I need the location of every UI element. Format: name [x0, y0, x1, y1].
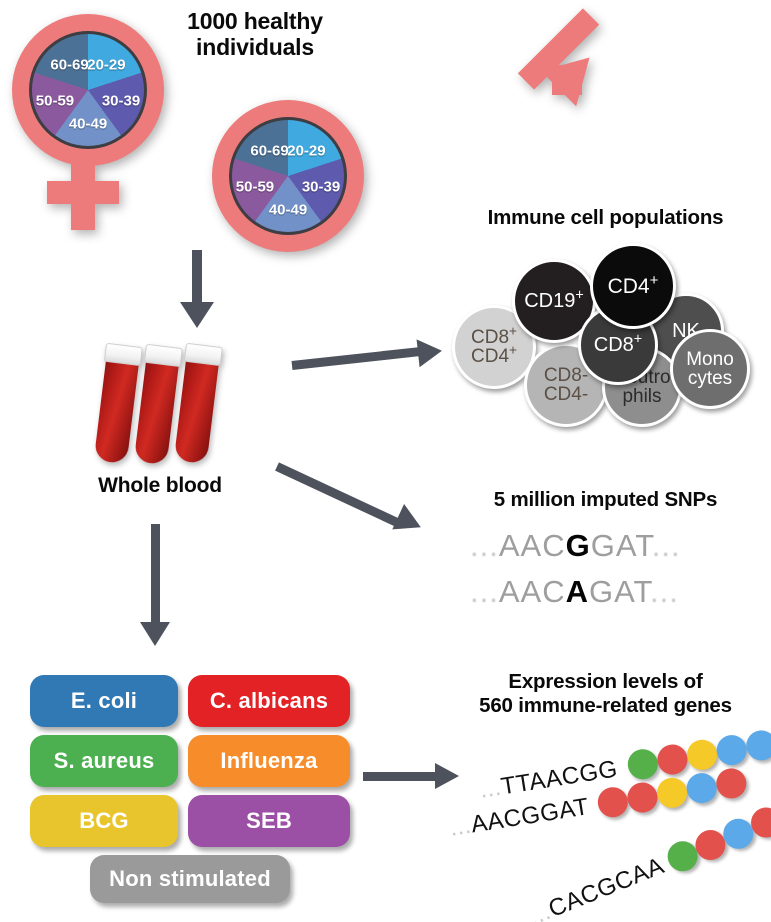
immune-title: Immune cell populations — [440, 206, 771, 230]
arrow-shaft — [192, 250, 202, 308]
arrow-head — [435, 763, 459, 789]
age-group-label-40-49: 40-49 — [69, 115, 107, 132]
age-group-label-40-49: 40-49 — [269, 201, 307, 218]
immune-cell-cluster: CD19+CD4+CD8+CD4+CD8+NKCD8-CD4-Neutrophi… — [452, 243, 771, 408]
arrow-stimuli-to-expression — [363, 760, 473, 794]
arrow-shaft — [151, 524, 160, 628]
stimulus-label: BCG — [79, 808, 129, 834]
stimulus-label: SEB — [246, 808, 292, 834]
snp-lead: ... — [470, 528, 499, 563]
immune-cell-label: CD8+CD4+ — [471, 328, 517, 366]
expression-title-line1: Expression levels of — [438, 670, 771, 694]
gene-bead — [714, 766, 748, 800]
snp-lead: ... — [470, 574, 499, 609]
age-group-label-30-39: 30-39 — [302, 178, 340, 195]
snp-prefix: AAC — [499, 528, 566, 563]
stimulus-label: C. albicans — [210, 688, 328, 714]
age-group-label-50-59: 50-59 — [36, 92, 74, 109]
stimulus-label: E. coli — [71, 688, 137, 714]
age-group-label-60-69: 60-69 — [50, 56, 88, 73]
gene-bead — [655, 742, 689, 776]
female-symbol: 20-2930-3940-4950-5960-69 — [0, 0, 180, 245]
stimulus-box-influenza[interactable]: Influenza — [188, 735, 350, 787]
tube-body — [94, 357, 139, 464]
stimuli-panel: E. coliC. albicansS. aureusInfluenzaBCGS… — [30, 675, 350, 900]
immune-cell-label: CD8-CD4- — [544, 366, 588, 404]
arrow-head — [417, 337, 444, 367]
gene-bead — [625, 780, 659, 814]
expression-title-line2: 560 immune-related genes — [438, 694, 771, 718]
gene-bead — [685, 771, 719, 805]
snp-sequences: ...AACGGAT......AACAGAT... — [470, 528, 750, 618]
immune-cell-label: Monocytes — [686, 350, 734, 388]
arrow-shaft — [292, 347, 422, 370]
age-group-label-20-29: 20-29 — [287, 142, 325, 159]
expression-title: Expression levels of 560 immune-related … — [438, 670, 771, 717]
immune-cell-label: CD4+ — [608, 276, 659, 297]
snp-prefix: AAC — [499, 574, 566, 609]
arrow-shaft — [363, 772, 437, 781]
snps-title: 5 million imputed SNPs — [440, 488, 771, 512]
stimulus-box-nonstimulated[interactable]: Non stimulated — [90, 855, 290, 903]
tube-body — [174, 357, 219, 464]
arrow-blood-to-immune — [290, 330, 470, 390]
snp-suffix: GAT — [591, 528, 652, 563]
gene-sequence-bases: CACGCAA — [545, 852, 668, 922]
immune-cell-monocytes: Monocytes — [670, 329, 750, 409]
age-group-label-30-39: 30-39 — [102, 92, 140, 109]
gene-bead — [596, 785, 630, 819]
immune-cell-cd4: CD4+ — [590, 243, 676, 329]
age-group-label-20-29: 20-29 — [87, 56, 125, 73]
male-symbol: 20-2930-3940-4950-5960-69 — [200, 20, 435, 260]
arrow-shaft — [275, 462, 404, 528]
female-symbol-cross — [47, 181, 119, 204]
snp-sequence-row: ...AACGGAT... — [470, 528, 681, 564]
snp-suffix: GAT — [589, 574, 650, 609]
immune-cell-label: CD8+ — [594, 335, 642, 355]
gene-bead — [685, 738, 719, 772]
snp-sequence-row: ...AACAGAT... — [470, 574, 679, 610]
stimulus-box-calbicans[interactable]: C. albicans — [188, 675, 350, 727]
snp-tail: ... — [652, 528, 681, 563]
immune-cell-label: CD19+ — [524, 291, 584, 311]
stimulus-box-ecoli[interactable]: E. coli — [30, 675, 178, 727]
arrow-head — [180, 302, 214, 328]
snp-tail: ... — [650, 574, 679, 609]
stimulus-box-bcg[interactable]: BCG — [30, 795, 178, 847]
male-pie-outline: 20-2930-3940-4950-5960-69 — [229, 117, 347, 235]
blood-tubes — [100, 340, 260, 470]
gene-bead — [715, 733, 749, 767]
stimulus-label: S. aureus — [54, 748, 155, 774]
gene-bead — [744, 728, 771, 762]
tube-body — [134, 358, 179, 465]
gene-bead — [626, 747, 660, 781]
diagram-canvas: 1000 healthy individuals 20-2930-3940-49… — [0, 0, 771, 922]
stimulus-label: Non stimulated — [109, 866, 271, 892]
whole-blood-label: Whole blood — [60, 474, 260, 498]
stimulus-box-seb[interactable]: SEB — [188, 795, 350, 847]
age-group-label-50-59: 50-59 — [236, 178, 274, 195]
gene-sequence-text: ...CACGCAA — [525, 852, 669, 922]
male-age-pie: 20-2930-3940-4950-5960-69 — [232, 120, 344, 232]
female-symbol-ring: 20-2930-3940-4950-5960-69 — [12, 14, 164, 166]
female-pie-outline: 20-2930-3940-4950-5960-69 — [29, 31, 147, 149]
stimulus-box-saureus[interactable]: S. aureus — [30, 735, 178, 787]
gene-bead — [655, 776, 689, 810]
arrow-head — [140, 622, 170, 646]
expression-strands: ...TTAACGG...AACGGAT...CACGCAA — [460, 735, 771, 920]
snp-variant-base: A — [566, 574, 589, 609]
female-age-pie: 20-2930-3940-4950-5960-69 — [32, 34, 144, 146]
arrow-head — [392, 504, 426, 540]
age-group-label-60-69: 60-69 — [250, 142, 288, 159]
stimulus-label: Influenza — [220, 748, 317, 774]
male-symbol-ring: 20-2930-3940-4950-5960-69 — [212, 100, 364, 252]
arrow-blood-to-snps — [275, 450, 465, 560]
blood-tube — [94, 343, 141, 464]
snp-variant-base: G — [566, 528, 591, 563]
